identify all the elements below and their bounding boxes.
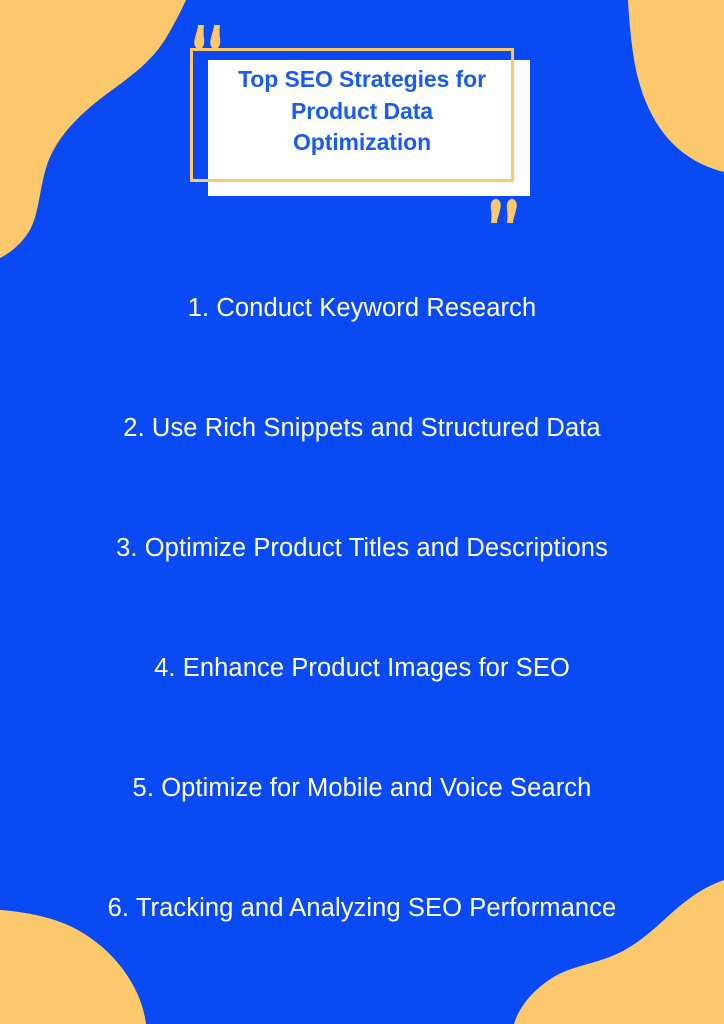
page-title-line-2: Product Data [291, 98, 433, 124]
list-item-label: 6. Tracking and Analyzing SEO Performanc… [108, 893, 617, 924]
seo-strategies-poster: Top SEO Strategies for Product Data Opti… [0, 0, 724, 1024]
wave-blob-top-left-shape [0, 0, 186, 258]
list-item: 1. Conduct Keyword Research [0, 248, 724, 368]
list-item: 5. Optimize for Mobile and Voice Search [0, 728, 724, 848]
list-item-label: 5. Optimize for Mobile and Voice Search [133, 773, 592, 804]
quote-close-icon [487, 198, 523, 226]
list-item-label: 3. Optimize Product Titles and Descripti… [116, 533, 608, 564]
list-item-label: 4. Enhance Product Images for SEO [154, 653, 570, 684]
list-item-label: 2. Use Rich Snippets and Structured Data [123, 413, 600, 444]
list-item-label: 1. Conduct Keyword Research [188, 293, 537, 324]
circle-blob-top-right-shape [628, 0, 724, 172]
page-title: Top SEO Strategies for Product Data Opti… [212, 64, 512, 159]
page-title-line-1: Top SEO Strategies for [238, 66, 486, 92]
list-item: 6. Tracking and Analyzing SEO Performanc… [0, 848, 724, 968]
strategy-list: 1. Conduct Keyword Research 2. Use Rich … [0, 248, 724, 968]
page-title-line-3: Optimization [293, 129, 431, 155]
list-item: 2. Use Rich Snippets and Structured Data [0, 368, 724, 488]
list-item: 4. Enhance Product Images for SEO [0, 608, 724, 728]
list-item: 3. Optimize Product Titles and Descripti… [0, 488, 724, 608]
title-block: Top SEO Strategies for Product Data Opti… [190, 48, 530, 196]
